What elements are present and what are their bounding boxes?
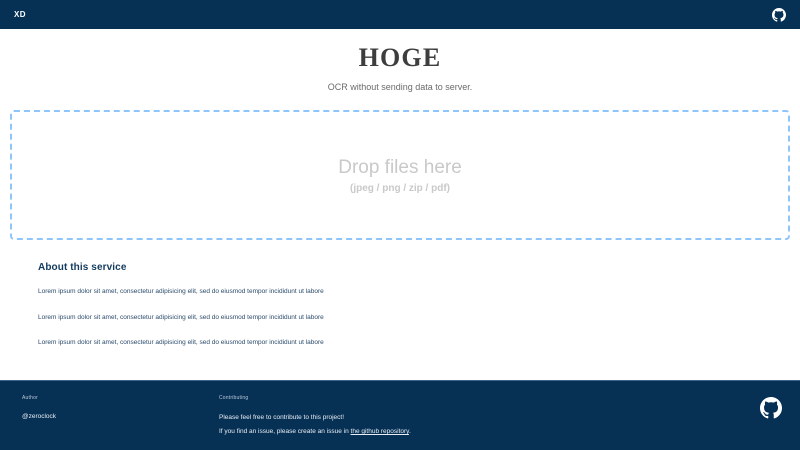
dropzone-title: Drop files here xyxy=(338,157,462,179)
author-handle-link[interactable]: @zeroclock xyxy=(22,413,219,420)
dropzone-formats: (jpeg / png / zip / pdf) xyxy=(350,183,450,194)
file-dropzone[interactable]: Drop files here (jpeg / png / zip / pdf) xyxy=(10,110,790,240)
footer-contributing-column: Contributing Please feel free to contrib… xyxy=(219,395,786,439)
hero-section: HOGE OCR without sending data to server. xyxy=(10,29,790,92)
footer-contributing-heading: Contributing xyxy=(219,395,786,401)
site-footer: Author @zeroclock Contributing Please fe… xyxy=(0,380,800,450)
about-paragraph: Lorem ipsum dolor sit amet, consectetur … xyxy=(38,285,458,299)
contributing-line-1: Please feel free to contribute to this p… xyxy=(219,412,786,424)
about-paragraph: Lorem ipsum dolor sit amet, consectetur … xyxy=(38,336,458,350)
contributing-text-prefix: If you find an issue, please create an i… xyxy=(219,428,351,435)
footer-author-column: Author @zeroclock xyxy=(14,395,219,420)
about-paragraph: Lorem ipsum dolor sit amet, consectetur … xyxy=(38,311,458,325)
about-section: About this service Lorem ipsum dolor sit… xyxy=(38,262,458,350)
github-icon xyxy=(760,397,782,419)
footer-author-heading: Author xyxy=(22,395,219,401)
site-header: XD xyxy=(0,0,800,29)
about-title: About this service xyxy=(38,262,458,273)
page-title: HOGE xyxy=(10,43,790,73)
header-github-link[interactable] xyxy=(772,8,786,22)
brand-logo[interactable]: XD xyxy=(14,10,26,19)
github-repository-link[interactable]: the github repository xyxy=(351,428,409,435)
contributing-line-2: If you find an issue, please create an i… xyxy=(219,426,786,438)
main-content: HOGE OCR without sending data to server.… xyxy=(0,29,800,380)
github-icon xyxy=(772,8,786,22)
page-subtitle: OCR without sending data to server. xyxy=(10,82,790,92)
contributing-text-suffix: . xyxy=(409,428,411,435)
